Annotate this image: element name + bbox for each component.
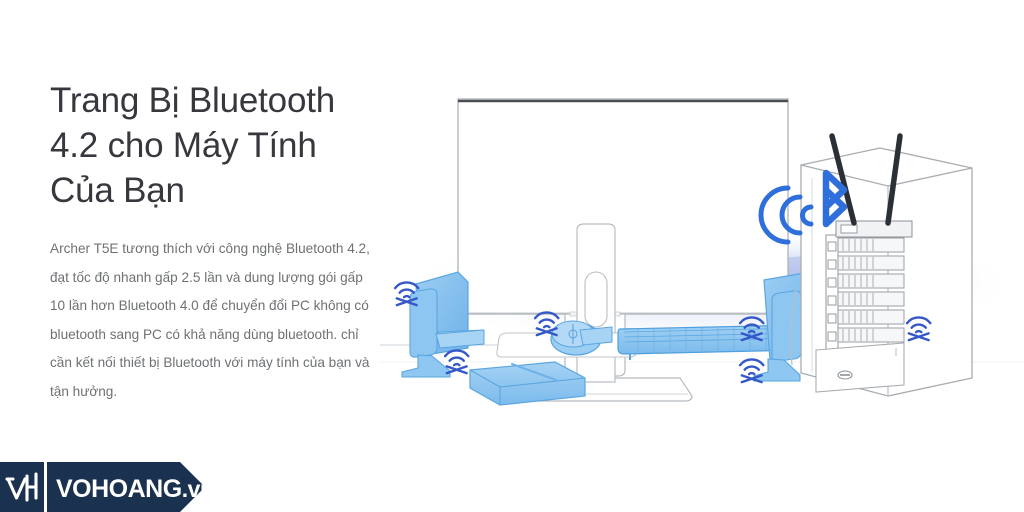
monitor — [458, 99, 788, 314]
page-root: Trang Bị Bluetooth 4.2 cho Máy Tính Của … — [0, 0, 1024, 512]
site-logo[interactable]: VOHOANG.vn — [0, 462, 210, 512]
logo-wordmark-main: VOHOANG — [56, 475, 182, 503]
product-illustration — [380, 60, 1024, 420]
psu-compartment — [816, 343, 904, 392]
pci-card — [826, 221, 912, 363]
page-title: Trang Bị Bluetooth 4.2 cho Máy Tính Của … — [50, 78, 390, 213]
logo-wordmark: VOHOANG.vn — [56, 475, 210, 503]
text-content-block: Trang Bị Bluetooth 4.2 cho Máy Tính Của … — [50, 78, 390, 406]
body-paragraph: Archer T5E tương thích với công nghệ Blu… — [50, 235, 375, 406]
logo-wordmark-tld: .vn — [182, 476, 210, 502]
